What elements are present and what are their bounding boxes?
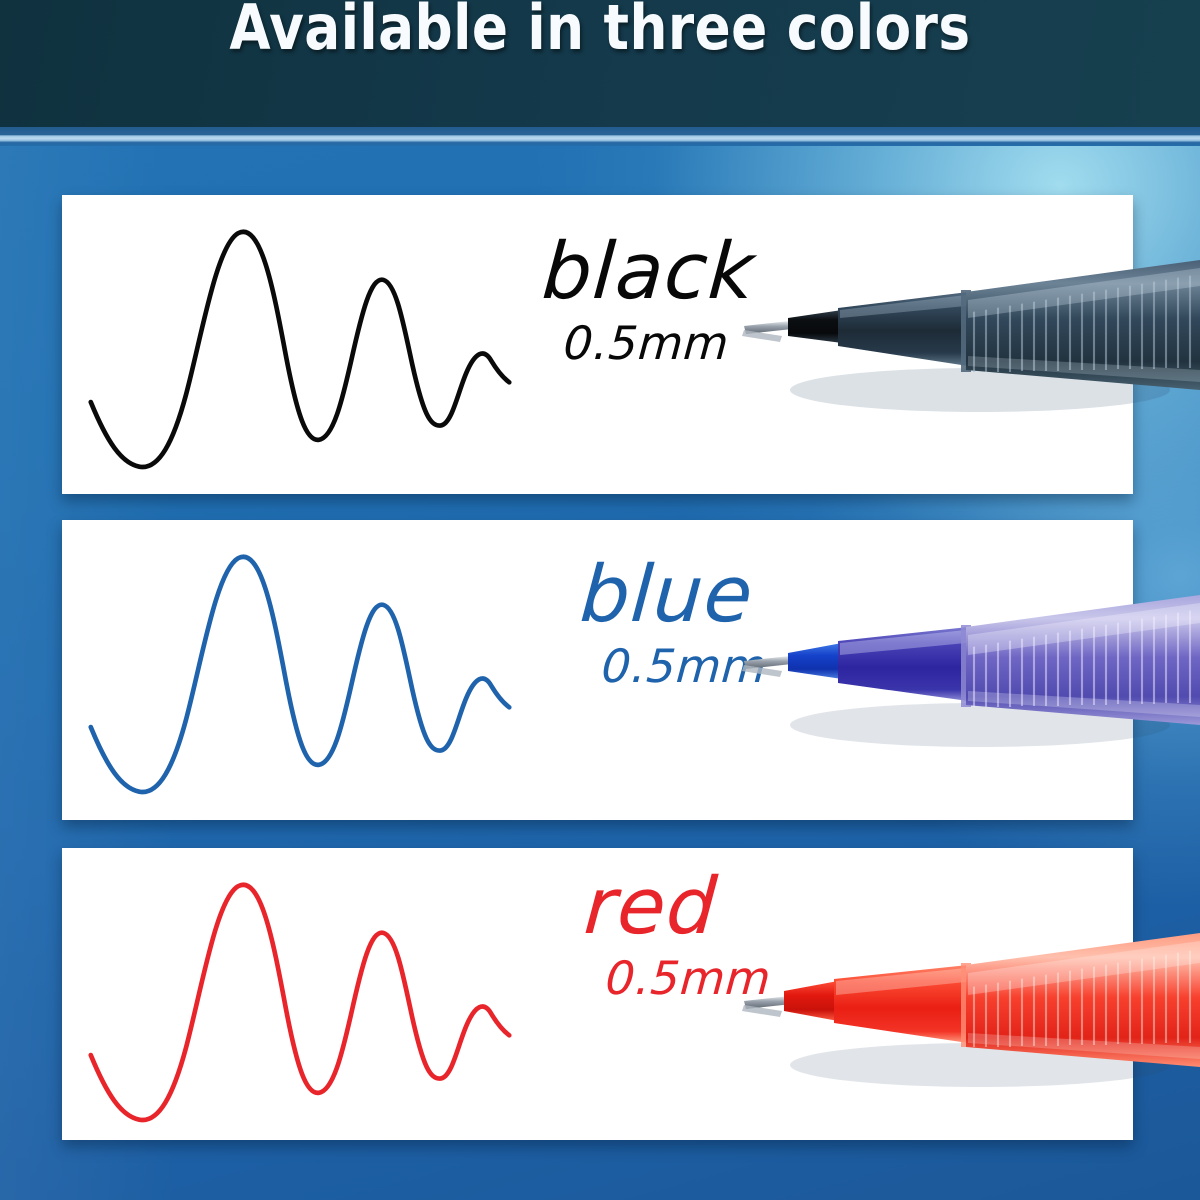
page-title: Available in three colors <box>0 27 1200 100</box>
ink-sample-wave-black <box>80 201 520 481</box>
tip-size-blue: 0.5mm <box>600 642 841 690</box>
color-name-red: red <box>582 872 847 944</box>
product-banner: Available in three colors black 0.5mm <box>0 0 1200 1200</box>
tip-size-black: 0.5mm <box>562 319 803 367</box>
page-title-text: Available in three colors <box>229 0 970 64</box>
header-banner: Available in three colors <box>0 0 1200 127</box>
color-name-blue: blue <box>578 560 843 632</box>
color-card-red[interactable]: red 0.5mm <box>62 848 1133 1140</box>
color-card-blue[interactable]: blue 0.5mm <box>62 520 1133 820</box>
label-block-red: red 0.5mm <box>582 872 842 1002</box>
color-card-black[interactable]: black 0.5mm <box>62 195 1133 494</box>
label-block-black: black 0.5mm <box>540 237 800 367</box>
ink-sample-wave-red <box>80 854 520 1134</box>
label-block-blue: blue 0.5mm <box>578 560 838 690</box>
tip-size-red: 0.5mm <box>604 954 845 1002</box>
ink-sample-wave-blue <box>80 526 520 806</box>
color-name-black: black <box>540 237 805 309</box>
